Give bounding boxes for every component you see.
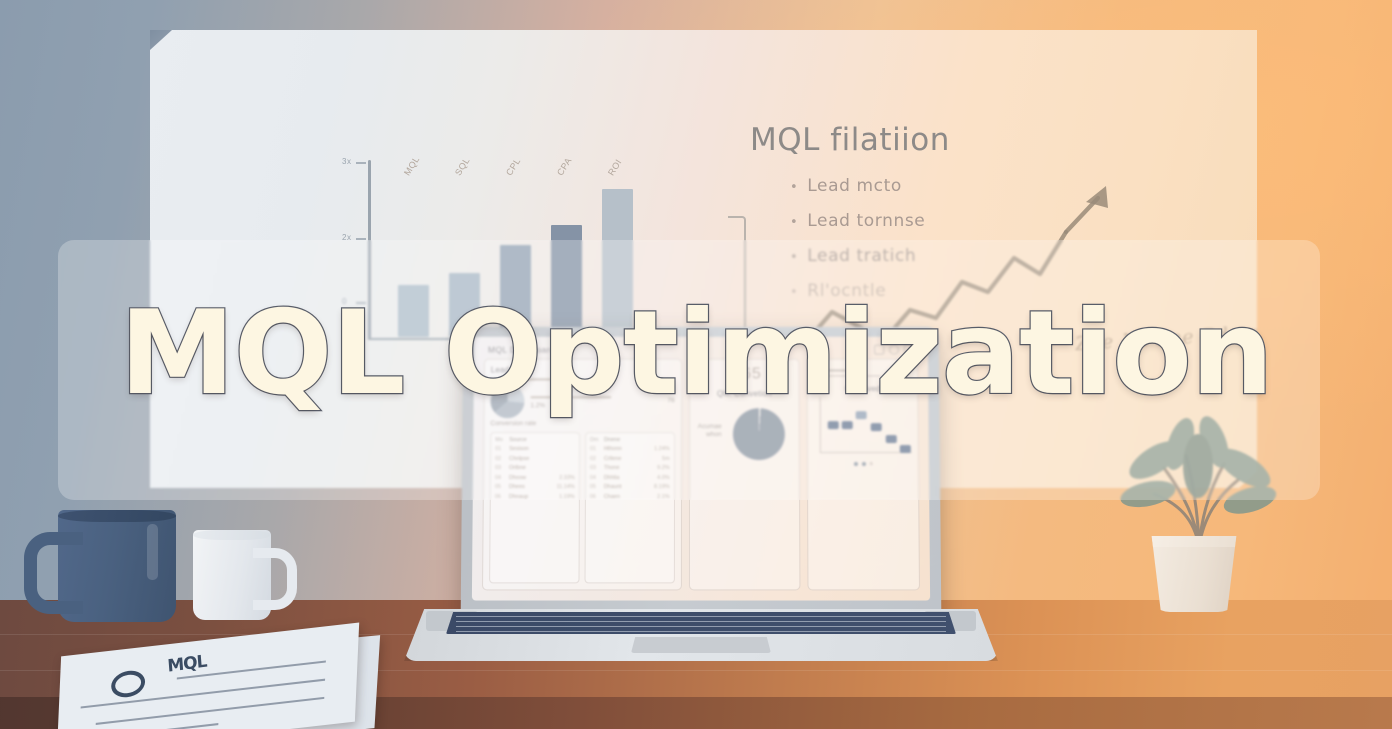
mug-highlight — [147, 524, 158, 580]
blue-coffee-mug — [58, 510, 176, 622]
y-tick-top — [356, 162, 366, 164]
laptop-keyboard[interactable] — [446, 612, 956, 634]
mug-rim — [58, 510, 176, 522]
mug-handle — [253, 548, 297, 610]
hero-banner-scene: 3x 2x 0 MQL SQL CPL CPA ROI MQL filatiio… — [0, 0, 1392, 729]
bar-label-0: MQL — [402, 154, 421, 177]
mug-rim — [193, 530, 271, 540]
white-coffee-mug — [193, 530, 271, 620]
paper-heading: MQL — [167, 652, 207, 677]
laptop-base — [404, 609, 998, 661]
bar-label-2: CPL — [504, 156, 522, 177]
mug-handle — [24, 532, 83, 614]
laptop-trackpad[interactable] — [631, 637, 771, 653]
bar-label-1: SQL — [453, 156, 472, 178]
circle-logo-icon — [111, 669, 146, 699]
bar-label-3: CPA — [555, 156, 574, 177]
plant-pot — [1148, 536, 1240, 612]
bar-label-4: ROI — [606, 157, 624, 177]
pot-lip — [1144, 536, 1244, 547]
page-title: MQL Optimization — [0, 296, 1392, 412]
y-tick-label-2: 3x — [342, 157, 351, 166]
